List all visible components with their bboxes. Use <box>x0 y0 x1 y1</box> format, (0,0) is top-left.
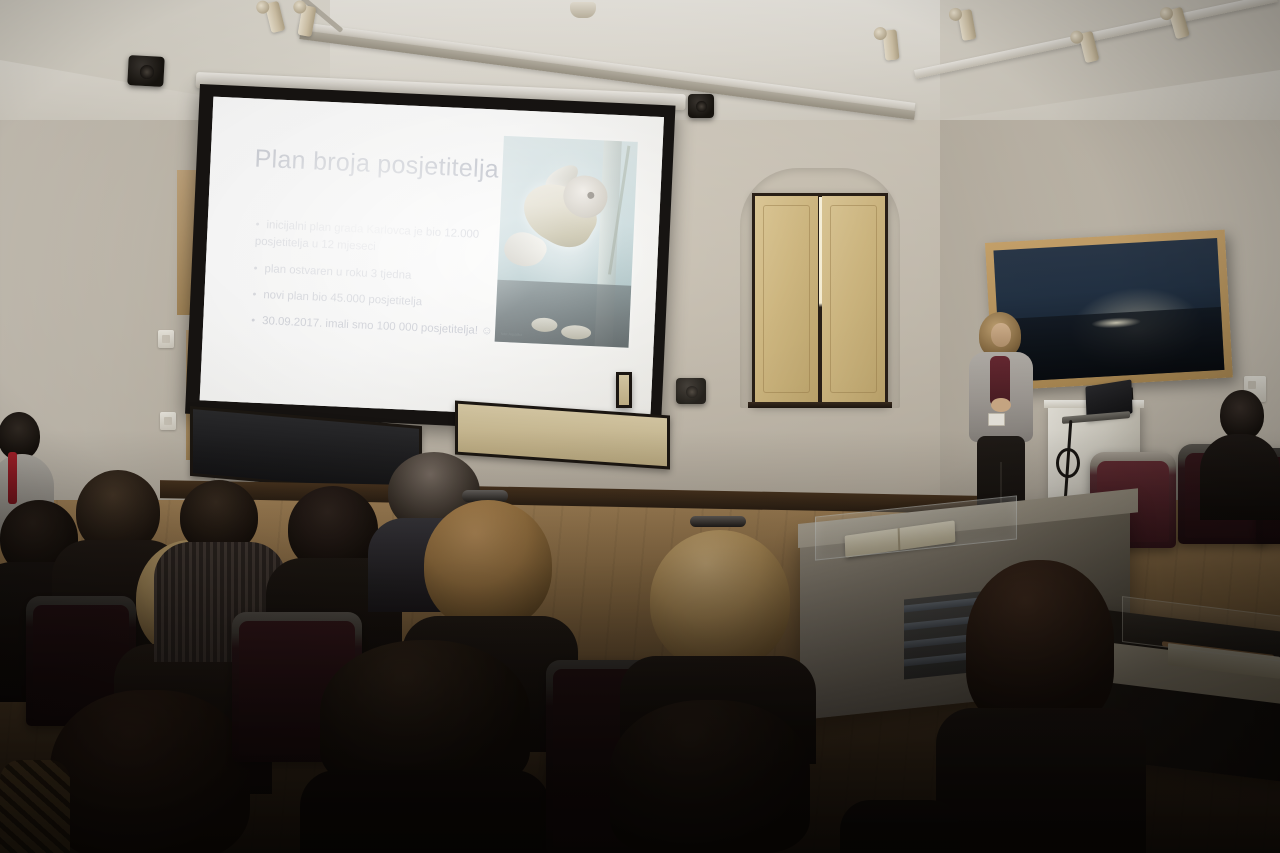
spotlight-icon <box>882 29 899 60</box>
audience-member <box>0 760 70 853</box>
smoke-detector-icon <box>570 2 596 18</box>
audience-body <box>840 800 960 853</box>
slide-fish-image: foto: Aquatika <box>495 136 638 348</box>
projection-screen: Plan broja posjetitelja inicijalni plan … <box>185 84 675 435</box>
aquarium-substrate <box>495 280 632 348</box>
light-switch[interactable] <box>158 330 174 348</box>
audience-head <box>610 700 810 853</box>
presentation-room-photo: Plan broja posjetitelja inicijalni plan … <box>0 0 1280 853</box>
slide-bullet: novi plan bio 45.000 posjetitelja <box>252 287 501 316</box>
screen-surface: Plan broja posjetitelja inicijalni plan … <box>200 97 664 421</box>
window-shutters[interactable] <box>752 193 888 405</box>
eyeglasses-icon <box>690 516 746 534</box>
wall-speaker <box>688 94 714 118</box>
leopard-print-garment <box>0 760 70 853</box>
window-sill <box>748 402 892 408</box>
slide-bullet: inicijalni plan grada Karlovca je bio 12… <box>254 217 503 263</box>
lanyard <box>8 452 24 504</box>
audience-body <box>1200 434 1280 520</box>
slide-bullet: plan ostvaren u roku 3 tjedna <box>253 260 502 289</box>
audience-member <box>300 640 550 853</box>
shutter-left[interactable] <box>755 196 818 402</box>
shutter-right[interactable] <box>822 196 885 402</box>
slide-bullet-list: inicijalni plan grada Karlovca je bio 12… <box>250 217 503 351</box>
wall-speaker <box>676 378 706 404</box>
audience-head-blonde <box>424 500 552 630</box>
cable-loop <box>1056 448 1080 478</box>
audience-body <box>936 708 1146 853</box>
slide-title: Plan broja posjetitelja <box>254 145 500 185</box>
glasses-frame <box>690 516 746 527</box>
presentation-slide: Plan broja posjetitelja inicijalni plan … <box>200 97 664 421</box>
presenter-hands <box>991 398 1011 412</box>
framed-artwork <box>616 372 632 408</box>
audience-body <box>300 770 550 853</box>
wall-speaker <box>127 55 165 87</box>
audience-member <box>600 700 820 853</box>
presenter-face <box>991 323 1011 347</box>
audience-head <box>966 560 1114 728</box>
presenter-name-badge <box>988 413 1005 426</box>
lanyard-strap <box>8 452 17 504</box>
audience-member <box>1198 390 1280 520</box>
presenter <box>963 312 1039 520</box>
audience-head <box>50 690 250 853</box>
audience-head <box>1220 390 1264 440</box>
power-outlet[interactable] <box>160 412 176 430</box>
audience-head-blonde <box>650 530 790 670</box>
audience-head <box>320 640 530 790</box>
shutter-gap <box>819 197 822 401</box>
slide-bullet: 30.09.2017. imali smo 100 000 posjetitel… <box>251 313 500 342</box>
audience-member <box>840 800 960 853</box>
audience-member <box>930 560 1150 853</box>
